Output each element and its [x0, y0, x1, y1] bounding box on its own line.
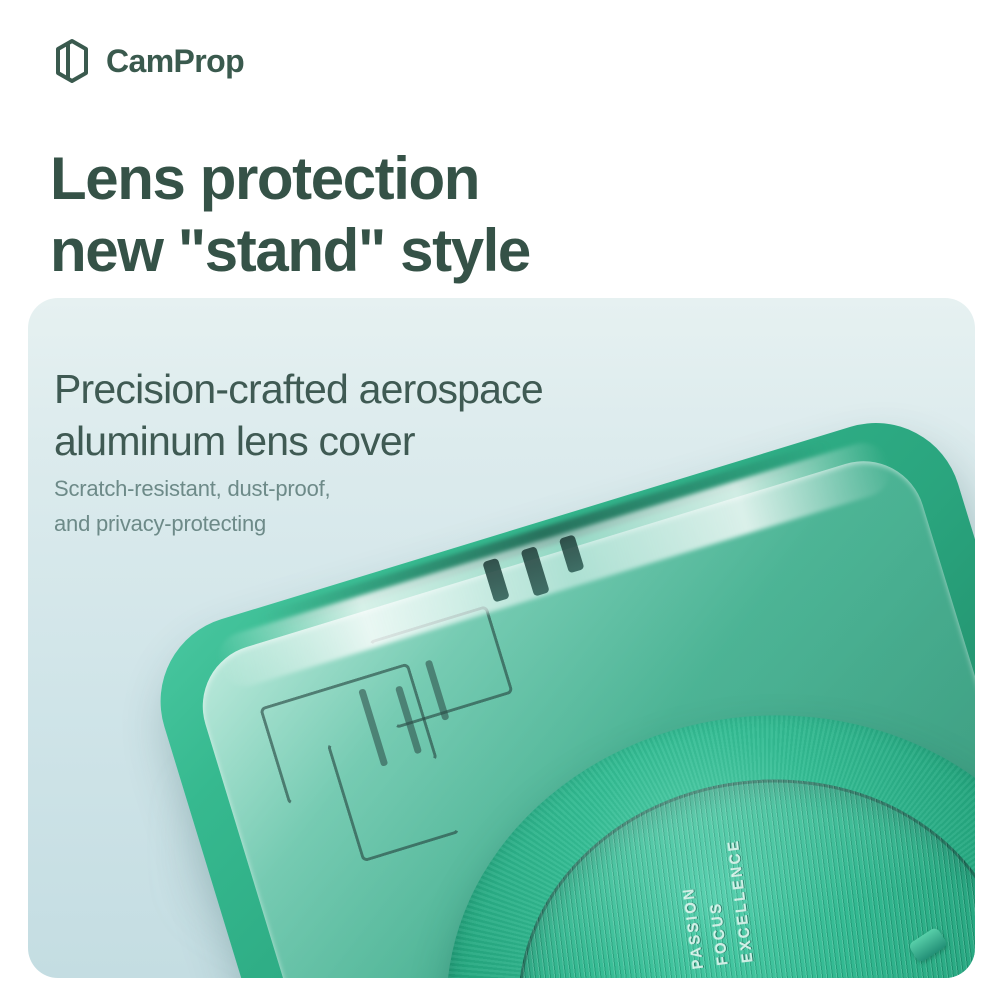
engraved-word-focus: FOCUS [707, 901, 732, 967]
hexagon-aperture-icon [52, 38, 92, 84]
brand-name: CamProp [106, 45, 244, 77]
brand-header: CamProp [52, 38, 244, 84]
feature-title: Precision-crafted aerospace aluminum len… [54, 364, 754, 467]
page-title: Lens protection new "stand" style [50, 143, 810, 287]
lens-cover: PASSION FOCUS EXCELLENCE [414, 679, 975, 978]
feature-card: PASSION FOCUS EXCELLENCE Precision-craft… [28, 298, 975, 978]
feature-subtitle: Scratch-resistant, dust-proof, and priva… [54, 472, 534, 542]
marketing-banner: CamProp Lens protection new "stand" styl… [0, 0, 1001, 1001]
